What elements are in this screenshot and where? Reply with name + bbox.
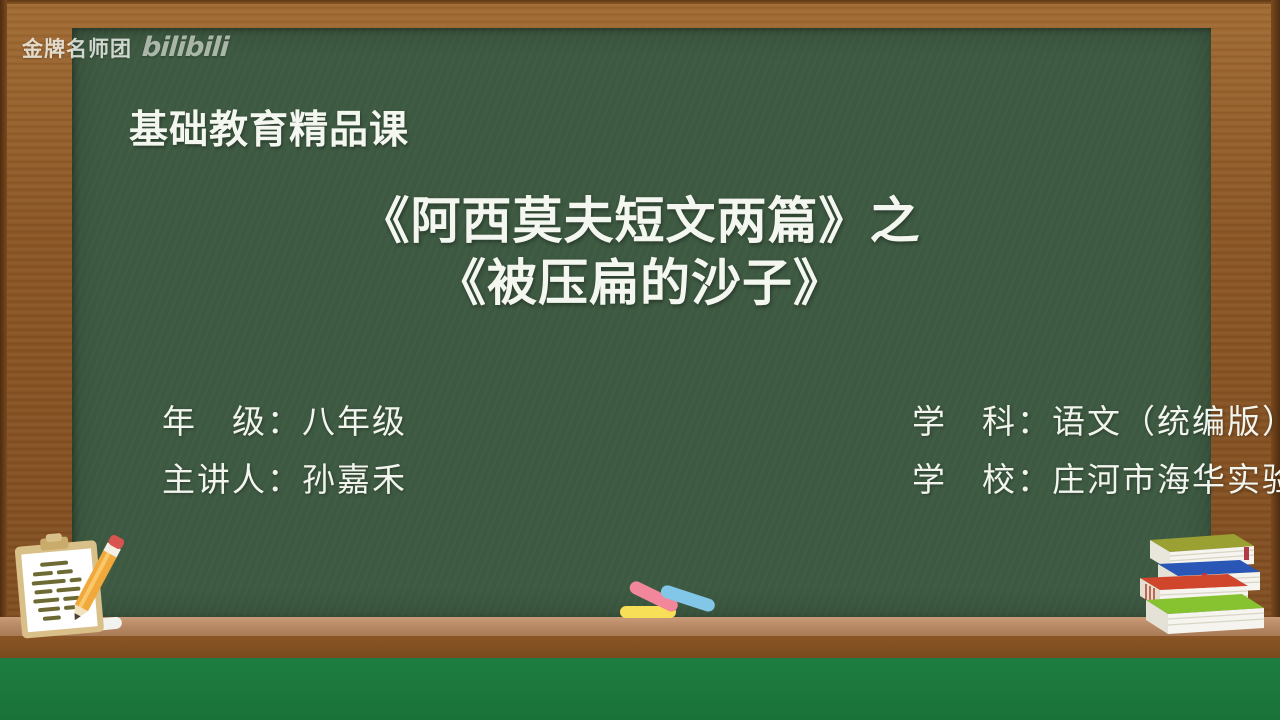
book-stack-icon — [1136, 520, 1270, 644]
meta-grade: 年 级：八年级 — [0, 395, 460, 443]
meta-subject: 学 科：语文（统编版） — [460, 395, 1280, 443]
table-row: 年 级：八年级 学 科：语文（统编版） — [0, 390, 1280, 448]
chalk-tray-front — [0, 636, 1280, 658]
table-row: 主讲人：孙嘉禾 学 校：庄河市海华实验初级中学 — [0, 448, 1280, 506]
page-title-line-1: 《阿西莫夫短文两篇》之 — [0, 190, 1280, 252]
bilibili-logo-icon: bilibili — [141, 32, 229, 63]
watermark: 金牌名师团 bilibili — [22, 32, 228, 63]
meta-lecturer: 主讲人：孙嘉禾 — [0, 453, 460, 501]
meta-school: 学 校：庄河市海华实验初级中学 — [460, 453, 1280, 501]
frame-top-edge — [0, 0, 1280, 4]
clipboard-icon — [8, 527, 138, 639]
page-title-line-2: 《被压扁的沙子》 — [0, 252, 1280, 314]
chalk-sticks-icon — [598, 578, 720, 626]
center-chalk-decoration — [598, 578, 718, 623]
slide-canvas: 金牌名师团 bilibili 基础教育精品课 《阿西莫夫短文两篇》之 《被压扁的… — [0, 0, 1280, 720]
background-wall — [0, 658, 1280, 720]
course-meta-table: 年 级：八年级 学 科：语文（统编版） 主讲人：孙嘉禾 学 校：庄河市海华实验初… — [0, 390, 1280, 506]
frame-right-edge — [1271, 0, 1280, 658]
book-green-icon — [1146, 594, 1264, 634]
clipboard-decoration — [8, 527, 138, 637]
books-decoration — [1136, 520, 1268, 642]
course-category-label: 基础教育精品课 — [129, 99, 409, 155]
watermark-brand-text: 金牌名师团 — [22, 33, 132, 63]
frame-left-edge — [0, 0, 7, 658]
page-title: 《阿西莫夫短文两篇》之 《被压扁的沙子》 — [0, 190, 1280, 314]
